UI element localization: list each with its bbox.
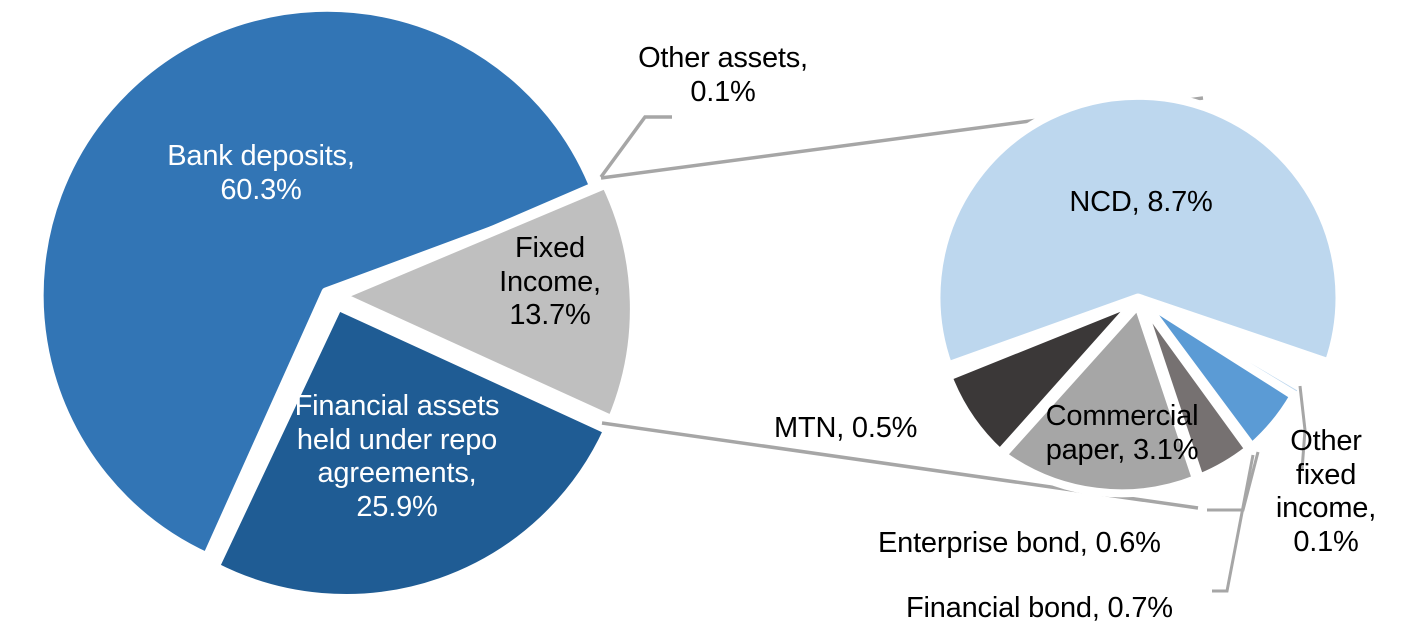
leader-financial-bond: [1212, 455, 1253, 591]
label-other-fixed-income: Other fixed income, 0.1%: [1252, 425, 1400, 560]
pie-of-pie-chart: Bank deposits, 60.3% Financial assets he…: [0, 0, 1404, 644]
label-other-assets: Other assets, 0.1%: [608, 42, 838, 109]
label-financial-bond: Financial bond, 0.7%: [906, 592, 1236, 626]
label-repo-agreements: Financial assets held under repo agreeme…: [262, 390, 532, 525]
label-ncd: NCD, 8.7%: [1048, 186, 1234, 220]
label-bank-deposits: Bank deposits, 60.3%: [138, 140, 384, 207]
leader-other-assets: [601, 117, 672, 177]
label-enterprise-bond: Enterprise bond, 0.6%: [878, 527, 1218, 561]
label-fixed-income: Fixed Income, 13.7%: [480, 232, 620, 333]
label-mtn: MTN, 0.5%: [774, 412, 954, 446]
label-commercial-paper: Commercial paper, 3.1%: [1018, 400, 1226, 467]
